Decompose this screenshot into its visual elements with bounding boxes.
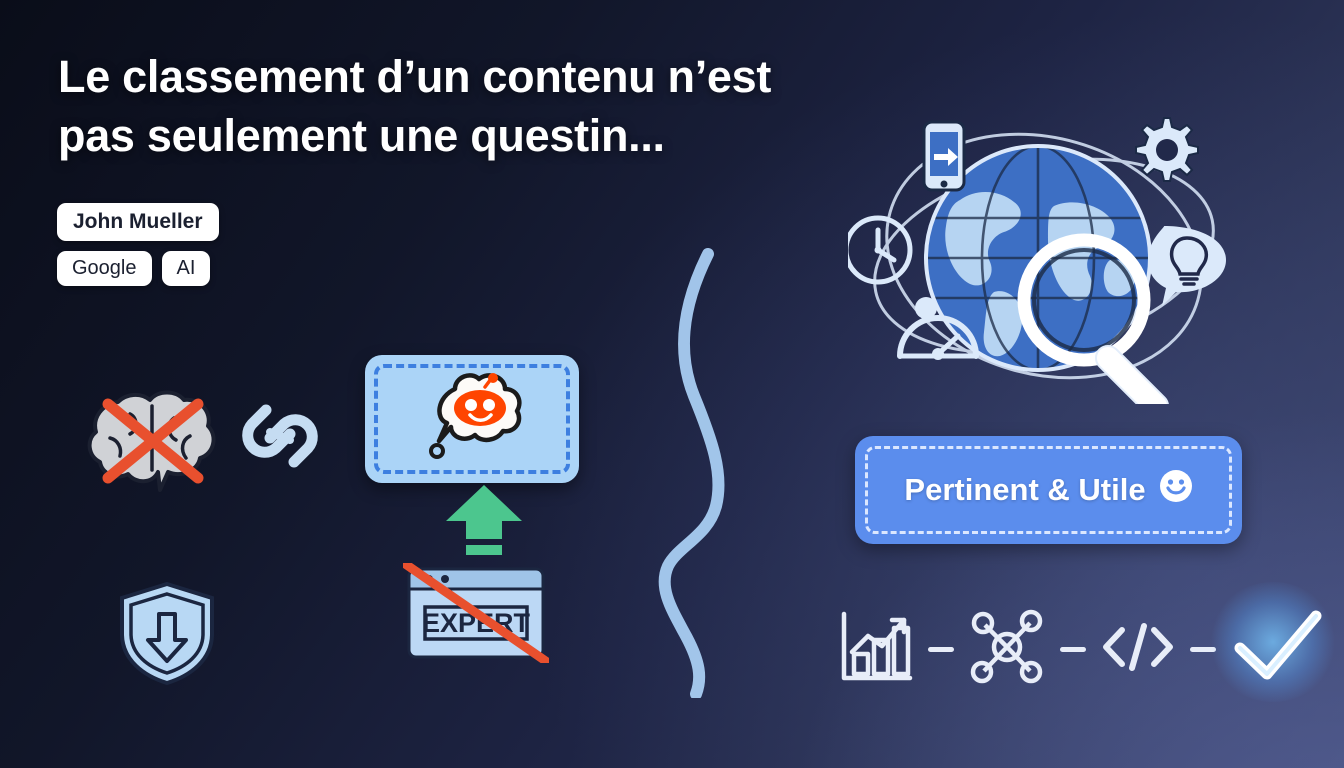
badge-ai[interactable]: AI [162, 251, 211, 286]
bar-chart-growth-icon [838, 610, 914, 689]
global-search-globe-illustration [848, 108, 1236, 404]
badge-john-mueller[interactable]: John Mueller [57, 203, 219, 241]
slide-canvas: Le classement d’un contenu n’est pas seu… [0, 0, 1344, 768]
clock-icon [848, 218, 910, 282]
quality-signals-strip [838, 608, 1326, 691]
code-tag-icon [1100, 618, 1176, 681]
checkmark-glow-icon [1230, 608, 1326, 691]
green-up-arrow-icon [440, 483, 528, 560]
orbit-node-dot [915, 297, 937, 319]
reddit-mention-card[interactable] [365, 355, 579, 483]
banner-content: Pertinent & Utile [904, 469, 1192, 511]
chain-link-icon [232, 390, 328, 482]
wavy-divider [650, 248, 760, 703]
network-nodes-icon [968, 609, 1046, 690]
gear-icon [1136, 118, 1198, 181]
smiley-face-icon [1159, 469, 1193, 511]
reddit-snoo-speech-bubble-icon [421, 367, 533, 472]
badge-row-primary: John Mueller [57, 203, 219, 241]
badge-row-secondary: Google AI [57, 251, 210, 286]
pertinent-utile-banner[interactable]: Pertinent & Utile [855, 436, 1242, 544]
phone-share-icon [924, 122, 964, 190]
expert-browser-window-crossed-out: EXPERT [403, 563, 549, 663]
brain-crossed-out-icon [82, 378, 228, 496]
banner-label: Pertinent & Utile [904, 472, 1145, 508]
separator-dash-1 [928, 647, 954, 652]
separator-dash-2 [1060, 647, 1086, 652]
shield-download-icon [112, 578, 222, 688]
page-title: Le classement d’un contenu n’est pas seu… [58, 48, 898, 165]
badge-google[interactable]: Google [57, 251, 152, 286]
